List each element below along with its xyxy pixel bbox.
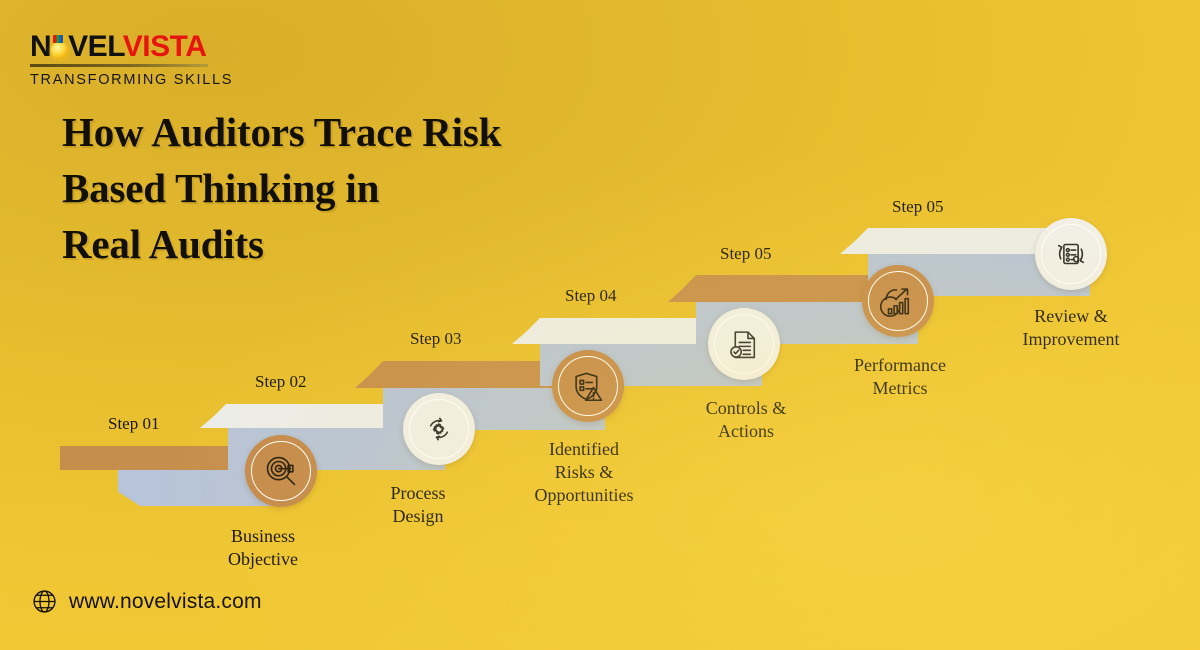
shield-warning-icon [569,367,607,405]
step-node-3[interactable] [552,350,624,422]
step-node-5[interactable] [862,265,934,337]
step-node-6[interactable] [1035,218,1107,290]
target-magnifier-icon [262,452,300,490]
footer-url[interactable]: www.novelvista.com [69,590,262,614]
step-label-1: Step 01 [108,414,159,434]
step-node-1[interactable] [245,435,317,507]
step-title-5: Performance Metrics [854,354,946,400]
infographic-canvas: NVELVISTA TRANSFORMING SKILLS How Audito… [0,0,1200,650]
footer: www.novelvista.com [32,589,262,614]
step-label-4: Step 04 [565,286,616,306]
step-label-6: Step 05 [892,197,943,217]
step-title-2: Process Design [391,482,446,528]
step-title-6: Review & Improvement [1023,305,1120,351]
step-label-5: Step 05 [720,244,771,264]
review-cycle-icon [1052,235,1090,273]
step-node-2[interactable] [403,393,475,465]
performance-chart-icon [879,282,917,320]
step-label-2: Step 02 [255,372,306,392]
step-node-4[interactable] [708,308,780,380]
step-title-4: Controls & Actions [706,397,787,443]
step-label-3: Step 03 [410,329,461,349]
step-title-1: Business Objective [228,525,298,571]
step-title-3: Identified Risks & Opportunities [535,438,634,507]
staircase-diagram [0,0,1200,650]
globe-icon [32,589,57,614]
gear-cycle-icon [420,410,458,448]
document-certified-icon [725,325,763,363]
